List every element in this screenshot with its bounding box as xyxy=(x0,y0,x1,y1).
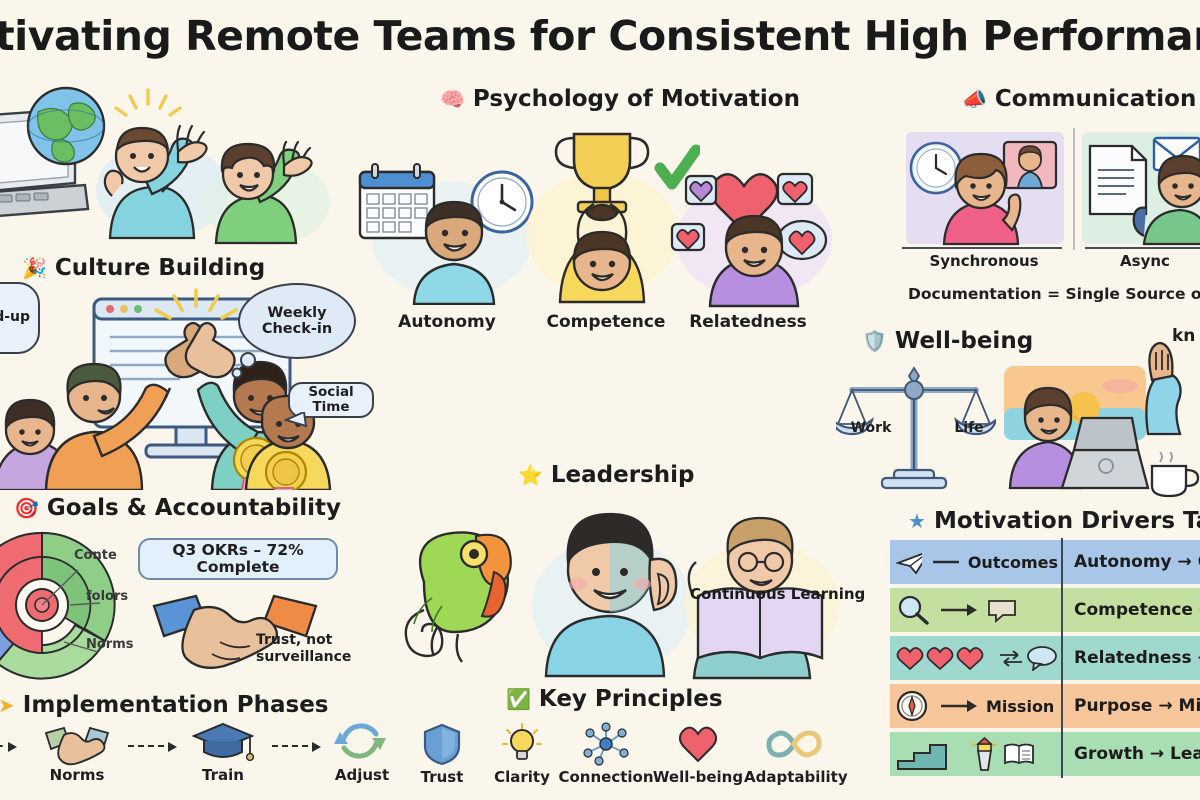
page-title: Motivating Remote Teams for Consistent H… xyxy=(0,12,1200,60)
communication-heading-text: Communication xyxy=(995,86,1196,112)
magnifier-icon xyxy=(896,595,930,625)
phase-arrow-1 xyxy=(128,745,174,747)
table-column-divider xyxy=(1061,538,1063,586)
table-row: Outcomes Autonomy → O xyxy=(890,540,1200,584)
table-row: Competence → xyxy=(890,588,1200,632)
arrow-right-icon xyxy=(931,555,959,569)
table-column-divider xyxy=(1061,730,1063,778)
arrow-right-icon xyxy=(939,699,977,713)
table-cell-left xyxy=(890,732,1058,776)
chameleon-icon xyxy=(396,510,536,670)
feedback-bubble-icon xyxy=(986,597,1020,623)
table-cell-left: Outcomes xyxy=(890,540,1058,584)
paper-plane-icon xyxy=(896,549,922,575)
section-heading-wellbeing: 🛡️ Well-being xyxy=(862,328,1033,354)
okr-badge: Q3 OKRs – 72% Complete xyxy=(138,538,338,580)
section-heading-implementation: ➤ Implementation Phases xyxy=(0,692,328,718)
target-label-1: folors xyxy=(86,589,128,604)
table-cell-right: Competence → xyxy=(1058,588,1200,632)
principle-adaptability: Adaptability xyxy=(744,722,844,784)
wellbeing-cut-text: kn xyxy=(1172,326,1195,346)
bubble-weekly-checkin: Weekly Check-in xyxy=(238,283,356,359)
principle-wellbeing: Well-being xyxy=(648,722,748,784)
shield-icon xyxy=(420,722,464,766)
table-row: Growth → Learn xyxy=(890,732,1200,776)
sunset-worker-illustration xyxy=(1000,362,1150,492)
graduation-cap-icon xyxy=(192,718,254,766)
bubble-standup: Stand-up xyxy=(0,282,40,354)
goals-heading-text: Goals & Accountability xyxy=(47,495,341,521)
pillar-label-relatedness: Relatedness xyxy=(678,312,818,332)
table-cell-left: Mission xyxy=(890,684,1058,728)
motivation-drivers-table: Outcomes Autonomy → O xyxy=(890,540,1200,780)
section-heading-communication: 📣 Communication xyxy=(962,86,1196,112)
check-mark-icon: ✅ xyxy=(506,689,531,709)
principle-connection: Connection xyxy=(556,722,656,784)
table-row: Relatedness → S xyxy=(890,636,1200,680)
principle-label: Adaptability xyxy=(744,768,844,786)
scale-label-work: Work xyxy=(840,420,902,436)
table-left-label: Outcomes xyxy=(968,553,1058,572)
table-column-divider xyxy=(1061,586,1063,634)
table-cell-right: Purpose → Miss xyxy=(1058,684,1200,728)
psychology-heading-text: Psychology of Motivation xyxy=(473,86,800,112)
arrow-icon: ➤ xyxy=(0,695,15,715)
implementation-heading-text: Implementation Phases xyxy=(23,692,329,718)
refresh-icon xyxy=(332,718,388,766)
shield-icon: 🛡️ xyxy=(862,331,887,351)
synchronous-illustration xyxy=(900,126,1070,256)
section-heading-leadership: ⭐ Leadership xyxy=(518,462,695,488)
stairs-icon xyxy=(896,737,968,771)
open-book-icon xyxy=(1002,740,1036,768)
coffee-cup-icon xyxy=(1146,452,1200,500)
party-icon: 🎉 xyxy=(22,258,47,278)
brain-icon: 🧠 xyxy=(440,89,465,109)
phase-arrow-0 xyxy=(0,745,14,747)
listening-leader-illustration xyxy=(528,498,698,678)
table-cell-right: Autonomy → O xyxy=(1058,540,1200,584)
section-heading-culture: 🎉 Culture Building xyxy=(22,255,265,281)
lighthouse-icon xyxy=(970,736,1000,772)
handshake-caption: Trust, not surveillance xyxy=(256,632,366,666)
culture-heading-text: Culture Building xyxy=(55,255,265,281)
table-left-label: Mission xyxy=(986,697,1054,716)
compass-icon xyxy=(896,690,930,722)
speaker-icon: 📣 xyxy=(962,89,987,109)
pillar-label-competence: Competence xyxy=(536,312,676,332)
book-text: Continuous Learning xyxy=(690,586,840,603)
table-cell-left xyxy=(890,588,1058,632)
hearts-icon xyxy=(896,646,995,670)
table-row: Mission Purpose → Miss xyxy=(890,684,1200,728)
caption-synchronous: Synchronous xyxy=(902,252,1066,270)
dart-icon: 🎯 xyxy=(14,498,39,518)
section-heading-goals: 🎯 Goals & Accountability xyxy=(14,495,341,521)
communication-divider xyxy=(1073,128,1075,250)
autonomy-illustration xyxy=(352,140,542,305)
async-underline xyxy=(1085,247,1200,249)
thought-tail-icon xyxy=(228,352,264,382)
leadership-heading-text: Leadership xyxy=(551,462,695,488)
table-column-divider xyxy=(1061,682,1063,730)
arrow-right-icon xyxy=(939,603,977,617)
speech-tail-icon xyxy=(284,412,310,432)
speech-bubble-icon xyxy=(1026,645,1058,671)
section-heading-motivation-table: ★ Motivation Drivers Table xyxy=(908,508,1200,534)
infinity-icon xyxy=(765,722,823,766)
culture-person-orange xyxy=(42,340,202,490)
network-icon xyxy=(581,722,631,766)
scale-label-life: Life xyxy=(938,420,1000,436)
heart-icon xyxy=(675,722,721,766)
principles-heading-text: Key Principles xyxy=(539,686,723,712)
cheering-person-green xyxy=(200,130,340,245)
async-illustration xyxy=(1082,126,1200,256)
star-blue-icon: ★ xyxy=(908,511,926,531)
table-cell-left xyxy=(890,636,1058,680)
principle-label: Well-being xyxy=(648,768,748,786)
phase-arrow-2 xyxy=(272,745,318,747)
lightbulb-icon xyxy=(499,722,545,766)
table-cell-right: Growth → Learn xyxy=(1058,732,1200,776)
caption-async: Async xyxy=(1090,252,1200,270)
phase-label-norms: Norms xyxy=(38,766,116,784)
infographic-canvas: Motivating Remote Teams for Consistent H… xyxy=(0,0,1200,800)
motivation-table-heading-text: Motivation Drivers Table xyxy=(934,508,1200,534)
sync-underline xyxy=(902,247,1062,249)
section-heading-principles: ✅ Key Principles xyxy=(506,686,723,712)
phase-label-adjust: Adjust xyxy=(322,766,402,784)
relatedness-illustration xyxy=(670,128,840,308)
wellbeing-heading-text: Well-being xyxy=(895,328,1033,354)
exchange-arrows-icon xyxy=(998,649,1024,667)
target-label-2: Norms xyxy=(86,637,134,652)
pillar-label-autonomy: Autonomy xyxy=(382,312,512,332)
table-column-divider xyxy=(1061,634,1063,682)
handshake-icon xyxy=(44,723,110,767)
principle-label: Connection xyxy=(556,768,656,786)
target-label-0: Conte xyxy=(74,548,117,563)
table-cell-right: Relatedness → S xyxy=(1058,636,1200,680)
section-heading-psychology: 🧠 Psychology of Motivation xyxy=(440,86,800,112)
phase-label-train: Train xyxy=(186,766,260,784)
documentation-footer: Documentation = Single Source of Truth xyxy=(908,285,1200,303)
star-icon: ⭐ xyxy=(518,465,543,485)
